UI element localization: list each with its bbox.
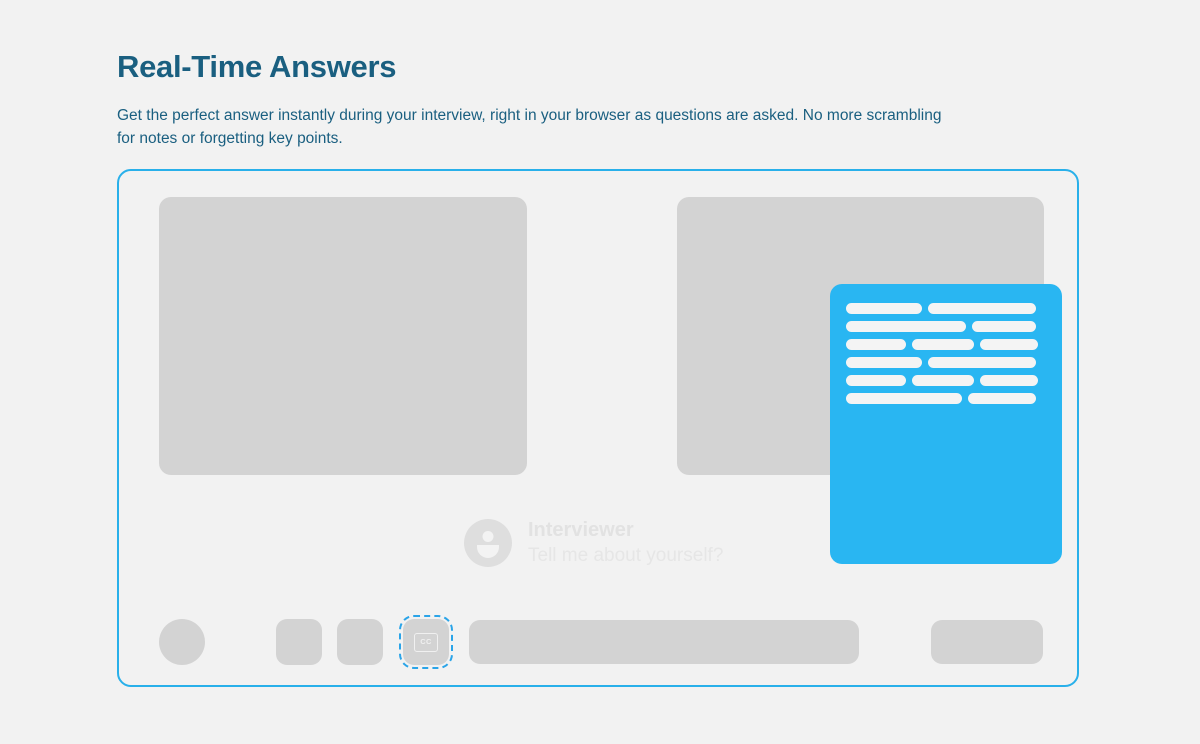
answer-line-row — [846, 375, 1046, 386]
answer-line-row — [846, 339, 1046, 350]
closed-captions-icon: CC — [414, 633, 438, 652]
page-subtitle: Get the perfect answer instantly during … — [117, 105, 957, 150]
share-screen-button[interactable] — [337, 619, 383, 665]
answer-line-bar — [912, 375, 974, 386]
answer-line-bar — [972, 321, 1036, 332]
meeting-toolbar: CC — [119, 619, 1077, 679]
answer-line-row — [846, 357, 1046, 368]
interviewer-name: Interviewer — [528, 519, 723, 542]
answer-line-bar — [912, 339, 974, 350]
page-header: Real-Time Answers Get the perfect answer… — [117, 48, 1017, 150]
answer-line-row — [846, 321, 1046, 332]
message-bar[interactable] — [469, 620, 859, 664]
answer-line-row — [846, 303, 1046, 314]
answer-line-bar — [846, 339, 906, 350]
answer-line-bar — [928, 357, 1036, 368]
avatar-body-shape — [477, 545, 499, 558]
answer-line-bar — [846, 321, 966, 332]
mic-button[interactable] — [159, 619, 205, 665]
local-video-placeholder — [159, 197, 527, 475]
real-time-answer-card — [830, 284, 1062, 564]
answer-line-bar — [846, 357, 922, 368]
answer-skeleton-lines — [846, 303, 1046, 404]
interview-mockup-frame: Interviewer Tell me about yourself? CC — [117, 169, 1079, 687]
avatar-head-shape — [483, 531, 494, 542]
answer-line-bar — [846, 375, 906, 386]
answer-line-bar — [928, 303, 1036, 314]
answer-line-bar — [968, 393, 1036, 404]
interviewer-caption: Interviewer Tell me about yourself? — [464, 519, 723, 567]
interviewer-avatar-icon — [464, 519, 512, 567]
leave-call-button[interactable] — [931, 620, 1043, 664]
page-title: Real-Time Answers — [117, 48, 1017, 85]
answer-line-bar — [846, 393, 962, 404]
camera-button[interactable] — [276, 619, 322, 665]
captions-button[interactable]: CC — [403, 619, 449, 665]
interviewer-question: Tell me about yourself? — [528, 545, 723, 567]
answer-line-bar — [980, 375, 1038, 386]
caption-text-group: Interviewer Tell me about yourself? — [528, 519, 723, 567]
answer-line-bar — [846, 303, 922, 314]
answer-line-bar — [980, 339, 1038, 350]
answer-line-row — [846, 393, 1046, 404]
